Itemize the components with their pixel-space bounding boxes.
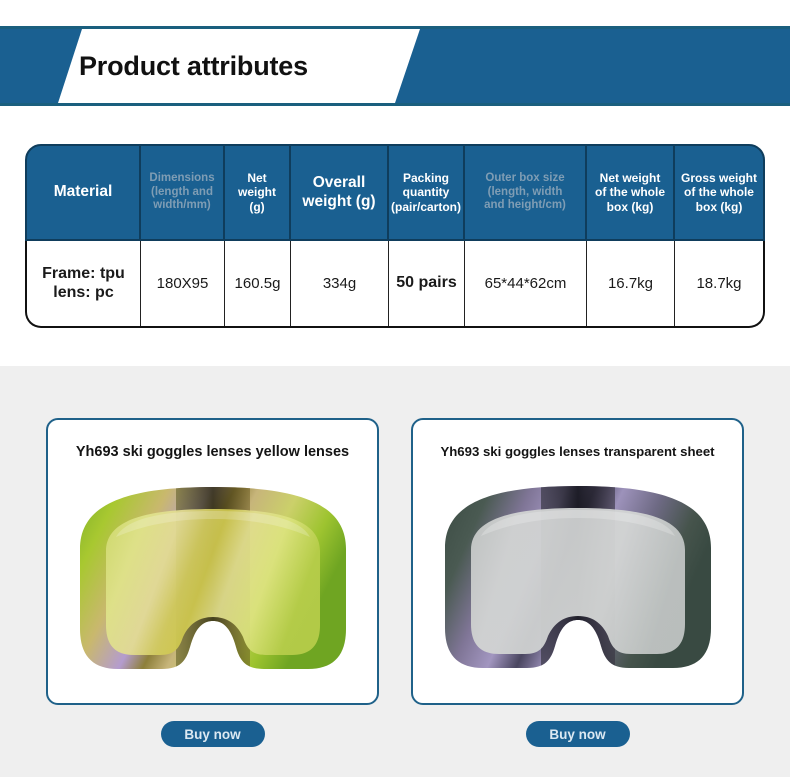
table-header-cell-dimensions: Dimensions (length and width/mm) [141, 146, 225, 239]
table-header-cell-overall-weight: Overall weight (g) [291, 146, 389, 239]
ski-goggle-lens-icon [68, 479, 358, 679]
page-title: Product attributes [79, 29, 308, 103]
table-header-cell-material: Material [27, 146, 141, 239]
header-text: quantity [403, 185, 450, 199]
header-text: (length, width [488, 186, 563, 198]
header-text: and height/cm) [484, 199, 566, 211]
ski-goggle-lens-icon [433, 478, 723, 678]
page-header-banner: Product attributes [0, 0, 790, 118]
banner-right-shape [395, 29, 790, 103]
header-text: Net weight [600, 171, 661, 185]
header-text: Material [54, 183, 113, 200]
table-header-row: Material Dimensions (length and width/mm… [25, 144, 765, 241]
cell-text: Frame: tpu [42, 265, 125, 282]
header-text: (length and [151, 186, 213, 198]
table-cell-overall-weight: 334g [291, 241, 389, 326]
table-cell-outer-box-size: 65*44*62cm [465, 241, 587, 326]
header-text: box (kg) [607, 200, 654, 214]
cell-text: lens: pc [53, 284, 113, 301]
table-header-cell-box-net-weight: Net weight of the whole box (kg) [587, 146, 675, 239]
product-card-yellow-lens[interactable]: Yh693 ski goggles lenses yellow lenses [46, 418, 379, 705]
table-header-cell-outer-box-size: Outer box size (length, width and height… [465, 146, 587, 239]
product-attributes-table: Material Dimensions (length and width/mm… [25, 144, 765, 328]
product-showcase-section: Yh693 ski goggles lenses yellow lenses [0, 366, 790, 777]
header-text: width/mm) [153, 199, 211, 211]
buy-now-button-transparent-lens[interactable]: Buy now [526, 721, 630, 747]
header-text: Net [247, 171, 266, 185]
table-cell-packing-quantity: 50 pairs [389, 241, 465, 326]
table-cell-net-weight: 160.5g [225, 241, 291, 326]
header-text: Overall [313, 174, 366, 191]
header-text: Packing [403, 171, 449, 185]
product-card-list: Yh693 ski goggles lenses yellow lenses [0, 418, 790, 705]
cell-text: 50 pairs [396, 274, 456, 293]
product-title: Yh693 ski goggles lenses yellow lenses [68, 444, 357, 460]
table-header-cell-packing-quantity: Packing quantity (pair/carton) [389, 146, 465, 239]
product-title: Yh693 ski goggles lenses transparent she… [432, 444, 722, 459]
header-text: box (kg) [696, 200, 743, 214]
header-text: of the whole [684, 185, 754, 199]
buy-slot-yellow: Buy now [46, 721, 379, 747]
table-cell-material: Frame: tpu lens: pc [27, 241, 141, 326]
header-text: Gross weight [681, 171, 757, 185]
header-text: (g) [249, 200, 264, 214]
table-cell-box-gross-weight: 18.7kg [675, 241, 763, 326]
buy-button-row: Buy now Buy now [0, 721, 790, 747]
product-card-transparent-lens[interactable]: Yh693 ski goggles lenses transparent she… [411, 418, 744, 705]
header-text: weight (g) [302, 193, 375, 210]
banner-bottom-rule [0, 103, 790, 106]
product-image-transparent-lens [413, 459, 742, 703]
header-text: Dimensions [149, 172, 214, 184]
buy-slot-transparent: Buy now [411, 721, 744, 747]
table-row: Frame: tpu lens: pc 180X95 160.5g 334g 5… [25, 241, 765, 328]
product-image-yellow-lens [48, 460, 377, 703]
table-cell-box-net-weight: 16.7kg [587, 241, 675, 326]
table-header-cell-net-weight: Net weight (g) [225, 146, 291, 239]
header-text: Outer box size [485, 172, 564, 184]
buy-now-button-yellow-lens[interactable]: Buy now [161, 721, 265, 747]
banner-left-shape [0, 29, 82, 103]
table-cell-dimensions: 180X95 [141, 241, 225, 326]
table-header-cell-box-gross-weight: Gross weight of the whole box (kg) [675, 146, 763, 239]
header-text: of the whole [595, 185, 665, 199]
header-text: weight [238, 185, 276, 199]
header-text: (pair/carton) [391, 200, 461, 214]
